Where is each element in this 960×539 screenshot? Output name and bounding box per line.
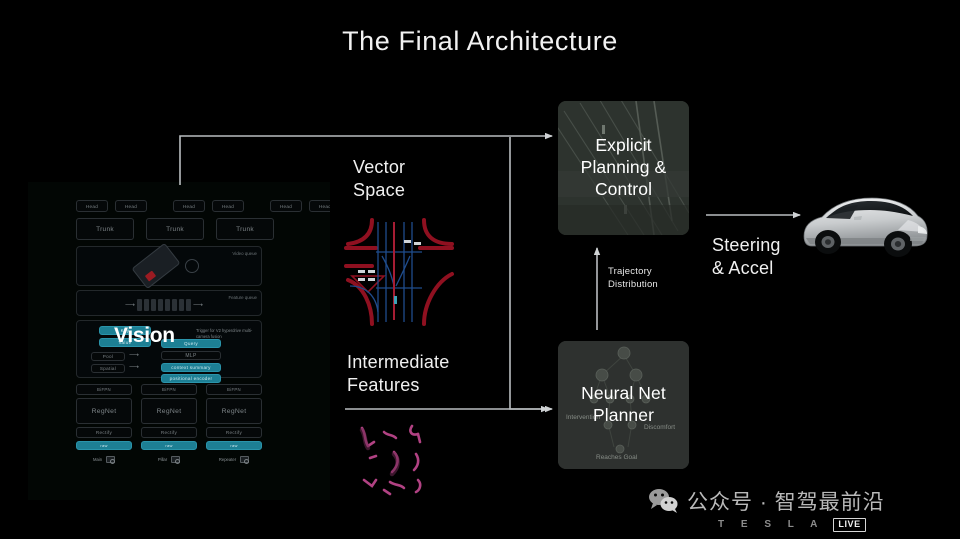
steering-line1: Steering [712, 234, 781, 257]
intermediate-line2: Features [347, 374, 449, 397]
reaches-goal-bg-label: Reaches Goal [596, 454, 638, 461]
vector-space-line2: Space [353, 179, 405, 202]
tesla-wordmark: T E S L A [718, 519, 824, 530]
tesla-car-image [798, 186, 930, 260]
video-frame-icon [131, 243, 180, 289]
rectify-box: Rectify [76, 427, 132, 438]
epc-line1: Explicit [581, 135, 667, 157]
camera-icon [171, 456, 180, 463]
feature-queue-label: Feature queue [228, 295, 257, 300]
camera-row: Main [76, 456, 132, 463]
nnp-line2: Planner [581, 405, 666, 427]
camera-label: Pillar [158, 457, 167, 462]
bifpn-box: BiFPN [206, 384, 262, 395]
epc-line3: Control [581, 179, 667, 201]
raw-box: raw [76, 441, 132, 450]
trunk-box: Trunk [216, 218, 274, 240]
arrow-right-icon: ⟶ [125, 302, 135, 309]
regnet-box: RegNet [206, 398, 262, 424]
pool-box: Pool [91, 352, 125, 361]
arrow-right-icon: ⟶ [193, 302, 203, 309]
car-wheel-front [884, 231, 912, 257]
vector-space-graphic [342, 216, 456, 330]
vector-space-label: Vector Space [353, 156, 405, 202]
intermediate-features-label: Intermediate Features [347, 351, 449, 397]
raw-box: raw [206, 441, 262, 450]
trajectory-line2: Distribution [608, 279, 658, 292]
arrow-right-icon: ⟶ [129, 364, 139, 371]
camera-label: Repeater [219, 457, 236, 462]
wechat-watermark: 公众号 · 智驾最前沿 [648, 486, 885, 516]
neural-net-planner-box[interactable]: Intervention Discomfort Reaches Goal Neu… [558, 341, 689, 469]
regnet-box: RegNet [76, 398, 132, 424]
arrow-vision-to-nnp [510, 137, 552, 409]
camera-icon [106, 456, 115, 463]
steering-line2: & Accel [712, 257, 781, 280]
head-box: Head [76, 200, 108, 212]
feature-queue-ticks: ⟶ ⟶ [125, 299, 203, 311]
steering-accel-label: Steering & Accel [712, 234, 781, 280]
rectify-box: Rectify [141, 427, 197, 438]
slide-root: The Final Architecture Head Head Head He… [0, 0, 960, 539]
head-box: Head [173, 200, 205, 212]
vision-title: Vision [114, 324, 175, 348]
trunk-box: Trunk [146, 218, 204, 240]
explicit-planning-control-box[interactable]: Explicit Planning & Control [558, 101, 689, 235]
bifpn-box: BiFPN [76, 384, 132, 395]
camera-row: Pillar [141, 456, 197, 463]
spatial-box: Spatial [91, 364, 125, 373]
backbones-row: BiFPN RegNet Rectify raw Main BiFPN RegN… [76, 384, 262, 463]
feature-queue-block: Feature queue ⟶ ⟶ [76, 290, 262, 316]
camera-icon [240, 456, 249, 463]
page-title: The Final Architecture [0, 26, 960, 57]
nnp-line1: Neural Net [581, 383, 666, 405]
vision-note: Trigger for V2 hyperdrive multi-camera f… [196, 328, 262, 340]
arrow-right-icon: ⟶ [129, 352, 139, 359]
tesla-brand-row: T E S L A LIVE [718, 518, 866, 532]
watermark-text: 公众号 · 智驾最前沿 [687, 486, 885, 516]
vector-space-line1: Vector [353, 156, 405, 179]
video-queue-label: Video queue [232, 251, 257, 256]
intermediate-line1: Intermediate [347, 351, 449, 374]
context-summary-box: context summary [161, 363, 221, 372]
regnet-box: RegNet [141, 398, 197, 424]
neural-net-planner-text: Neural Net Planner [581, 383, 666, 427]
trajectory-distribution-label: Trajectory Distribution [608, 266, 658, 292]
intermediate-features-graphic [350, 418, 442, 502]
backbone-column: BiFPN RegNet Rectify raw Pillar [141, 384, 197, 463]
backbone-column: BiFPN RegNet Rectify raw Repeater [206, 384, 262, 463]
camera-label: Main [93, 457, 102, 462]
head-box: Head [309, 200, 330, 212]
trunks-row: Trunk Trunk Trunk [76, 218, 274, 240]
heads-row: Head Head Head Head Head Head [76, 200, 330, 212]
car-wheel-rear [815, 230, 841, 254]
mlp-box: MLP [161, 351, 221, 360]
live-badge: LIVE [833, 518, 865, 532]
video-queue-block: Video queue [76, 246, 262, 286]
wechat-icon [648, 488, 678, 514]
head-box: Head [212, 200, 244, 212]
car-grille [910, 237, 926, 241]
trajectory-line1: Trajectory [608, 266, 658, 279]
trunk-box: Trunk [76, 218, 134, 240]
vision-network-panel: Head Head Head Head Head Head Trunk Trun… [28, 182, 330, 500]
rectify-box: Rectify [206, 427, 262, 438]
explicit-planning-control-text: Explicit Planning & Control [581, 135, 667, 201]
bifpn-box: BiFPN [141, 384, 197, 395]
raw-box: raw [141, 441, 197, 450]
epc-line2: Planning & [581, 157, 667, 179]
head-box: Head [270, 200, 302, 212]
backbone-column: BiFPN RegNet Rectify raw Main [76, 384, 132, 463]
positional-encoder-box: positional encoder [161, 374, 221, 383]
queue-loop-icon [185, 259, 199, 273]
head-box: Head [115, 200, 147, 212]
camera-row: Repeater [206, 456, 262, 463]
